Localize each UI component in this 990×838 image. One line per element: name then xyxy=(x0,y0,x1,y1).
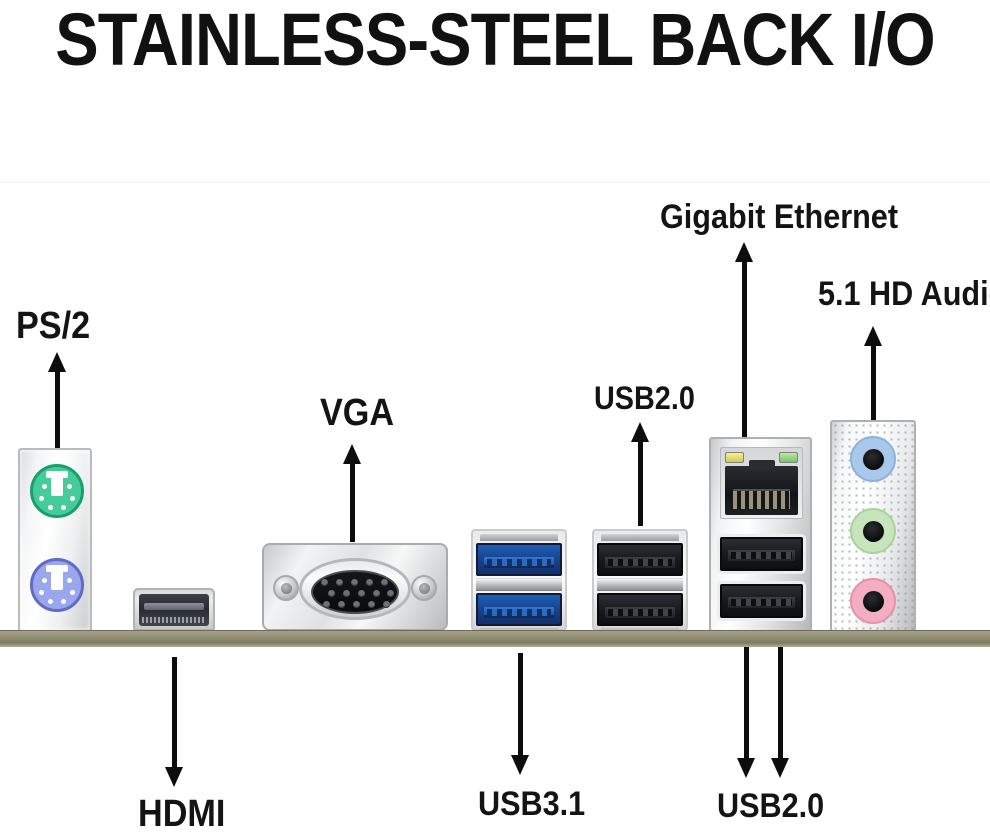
usb20-socket-lan-bottom[interactable] xyxy=(720,584,803,618)
usb-contacts xyxy=(731,552,792,559)
hdmi-port[interactable] xyxy=(133,588,215,631)
rj45-socket xyxy=(725,466,798,515)
rj45-contacts xyxy=(733,489,790,509)
ps2-pin xyxy=(70,496,75,501)
arrow-ps2 xyxy=(48,352,66,450)
usb-shield-cap xyxy=(480,534,558,541)
audio-microphone-jack[interactable] xyxy=(850,578,896,624)
ethernet-link-led-icon xyxy=(725,452,744,463)
ethernet-usb-combo-tower[interactable] xyxy=(709,437,812,632)
arrow-head xyxy=(165,767,183,787)
usb20-socket-bottom[interactable] xyxy=(597,593,683,626)
arrow-usb20-lan-a xyxy=(737,636,755,778)
vga-screw-left xyxy=(273,575,299,601)
label-usb20-mid: USB2.0 xyxy=(594,380,695,417)
arrow-shaft xyxy=(744,636,749,762)
arrow-shaft xyxy=(638,438,643,526)
ethernet-activity-led-icon xyxy=(779,452,798,463)
ps2-pin xyxy=(61,599,66,604)
ps2-green-jack[interactable] xyxy=(30,464,84,518)
hdmi-socket xyxy=(139,594,209,626)
audio-line-in-jack[interactable] xyxy=(850,436,896,482)
label-audio: 5.1 HD Audio xyxy=(818,275,990,314)
label-hdmi: HDMI xyxy=(138,793,225,836)
usb-shield-cap xyxy=(601,534,679,541)
motherboard-pcb-edge xyxy=(0,630,990,647)
label-usb31: USB3.1 xyxy=(478,785,585,824)
audio-line-out-jack[interactable] xyxy=(850,508,896,554)
usb-contacts xyxy=(487,559,551,566)
usb20-socket-top[interactable] xyxy=(597,543,683,576)
arrow-head xyxy=(737,758,755,778)
hdmi-tongue xyxy=(144,603,204,610)
label-usb20-lan: USB2.0 xyxy=(717,787,824,826)
header-divider xyxy=(0,182,990,183)
ps2-pin xyxy=(39,590,44,595)
usb31-port-stack[interactable] xyxy=(471,529,567,631)
arrow-vga xyxy=(343,444,361,542)
usb20-socket-lan-top[interactable] xyxy=(720,537,803,571)
rj45-latch-slot xyxy=(749,460,775,468)
ps2-pin xyxy=(42,484,47,489)
usb20-port-stack-middle[interactable] xyxy=(592,529,688,631)
usb31-socket-bottom[interactable] xyxy=(476,593,562,626)
arrow-shaft xyxy=(350,460,355,542)
usb31-socket-top[interactable] xyxy=(476,543,562,576)
arrow-head xyxy=(771,758,789,778)
label-ps2: PS/2 xyxy=(16,305,90,348)
usb-divider xyxy=(476,578,562,591)
vga-screw-right xyxy=(411,575,437,601)
arrow-shaft xyxy=(518,653,523,759)
vga-port[interactable] xyxy=(262,543,448,631)
ps2-keyway xyxy=(51,570,63,590)
arrow-gigabit-ethernet xyxy=(735,242,753,458)
ps2-pin xyxy=(61,505,66,510)
rj45-ethernet-port[interactable] xyxy=(720,447,803,519)
usb-contacts xyxy=(608,609,672,616)
arrow-shaft xyxy=(55,368,60,450)
arrow-head xyxy=(511,755,529,775)
usb-contacts xyxy=(487,609,551,616)
ps2-pin xyxy=(48,505,53,510)
audio-jack-tower[interactable] xyxy=(830,420,916,632)
label-gigabit-ethernet: Gigabit Ethernet xyxy=(660,198,898,237)
ps2-pin xyxy=(67,578,72,583)
page-title: STAINLESS-STEEL BACK I/O xyxy=(35,0,956,83)
vga-dsub-shell xyxy=(299,558,411,620)
ps2-pin xyxy=(48,599,53,604)
ps2-purple-jack[interactable] xyxy=(30,558,84,612)
ps2-pin xyxy=(70,590,75,595)
ps2-pin xyxy=(42,578,47,583)
arrow-usb31 xyxy=(511,653,529,775)
usb-contacts xyxy=(608,559,672,566)
ps2-port-stack[interactable] xyxy=(18,448,92,632)
usb-contacts xyxy=(731,599,792,606)
arrow-shaft xyxy=(172,657,177,771)
arrow-hdmi xyxy=(165,657,183,787)
label-vga: VGA xyxy=(320,392,394,435)
ps2-pin xyxy=(39,496,44,501)
ps2-pin xyxy=(67,484,72,489)
usb-divider xyxy=(597,578,683,591)
ps2-keyway xyxy=(51,476,63,496)
vga-pin-field xyxy=(311,570,399,614)
arrow-shaft xyxy=(742,258,747,458)
arrow-usb20-mid xyxy=(631,422,649,526)
hdmi-contacts xyxy=(142,617,206,623)
